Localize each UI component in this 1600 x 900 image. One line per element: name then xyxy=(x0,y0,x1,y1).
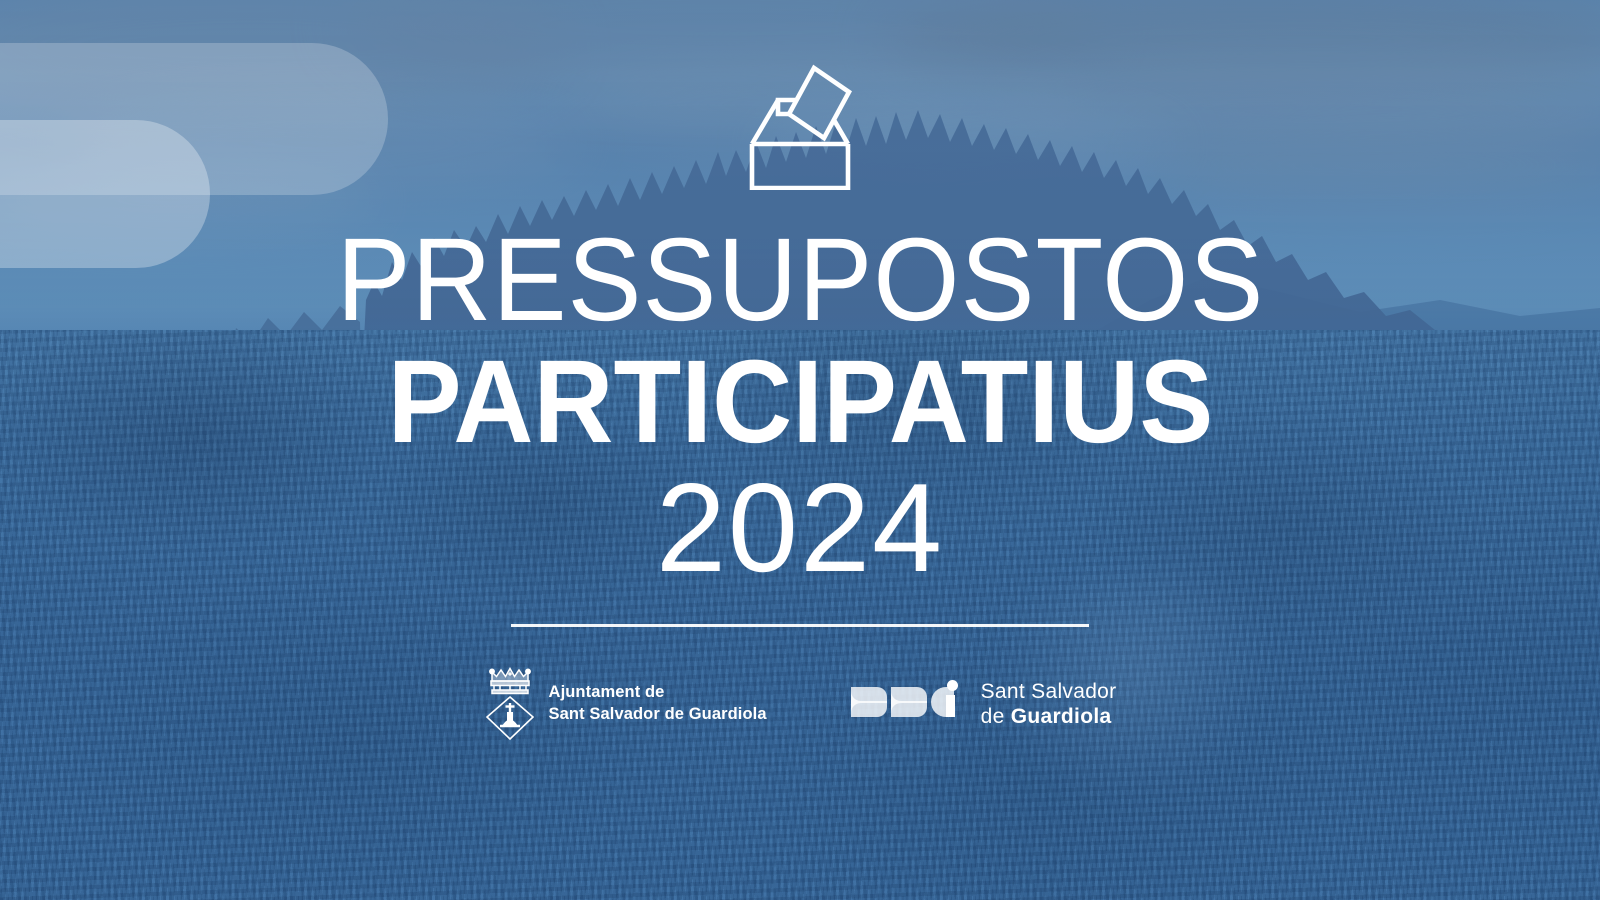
ssg-wordmark: Sant Salvador de Guardiola xyxy=(981,679,1117,729)
ballot-box-icon xyxy=(748,62,852,195)
ssg-line-1: Sant Salvador xyxy=(981,679,1117,704)
title-line-2: PARTICIPATIUS xyxy=(336,345,1264,461)
ssg-line-2: de Guardiola xyxy=(981,704,1117,729)
ajuntament-crest-icon xyxy=(484,663,536,746)
ssg-line-2-bold: Guardiola xyxy=(1011,705,1112,728)
horizontal-rule xyxy=(511,624,1089,627)
poster-canvas: PRESSUPOSTOS PARTICIPATIUS 2024 xyxy=(0,0,1600,900)
logo-ajuntament: Ajuntament de Sant Salvador de Guardiola xyxy=(484,663,767,746)
ajuntament-line-1: Ajuntament de xyxy=(549,682,767,704)
ssg-line-2-prefix: de xyxy=(981,705,1011,728)
page-title: PRESSUPOSTOS PARTICIPATIUS 2024 xyxy=(307,223,1294,590)
title-line-1: PRESSUPOSTOS xyxy=(336,223,1264,339)
poster-content: PRESSUPOSTOS PARTICIPATIUS 2024 xyxy=(0,0,1600,900)
ajuntament-wordmark: Ajuntament de Sant Salvador de Guardiola xyxy=(549,682,767,726)
logo-row: Ajuntament de Sant Salvador de Guardiola xyxy=(484,663,1117,746)
ssg-monogram-icon xyxy=(847,679,969,730)
logo-ssg: Sant Salvador de Guardiola xyxy=(847,679,1117,730)
ajuntament-line-2: Sant Salvador de Guardiola xyxy=(549,704,767,726)
title-line-3-year: 2024 xyxy=(307,466,1294,589)
